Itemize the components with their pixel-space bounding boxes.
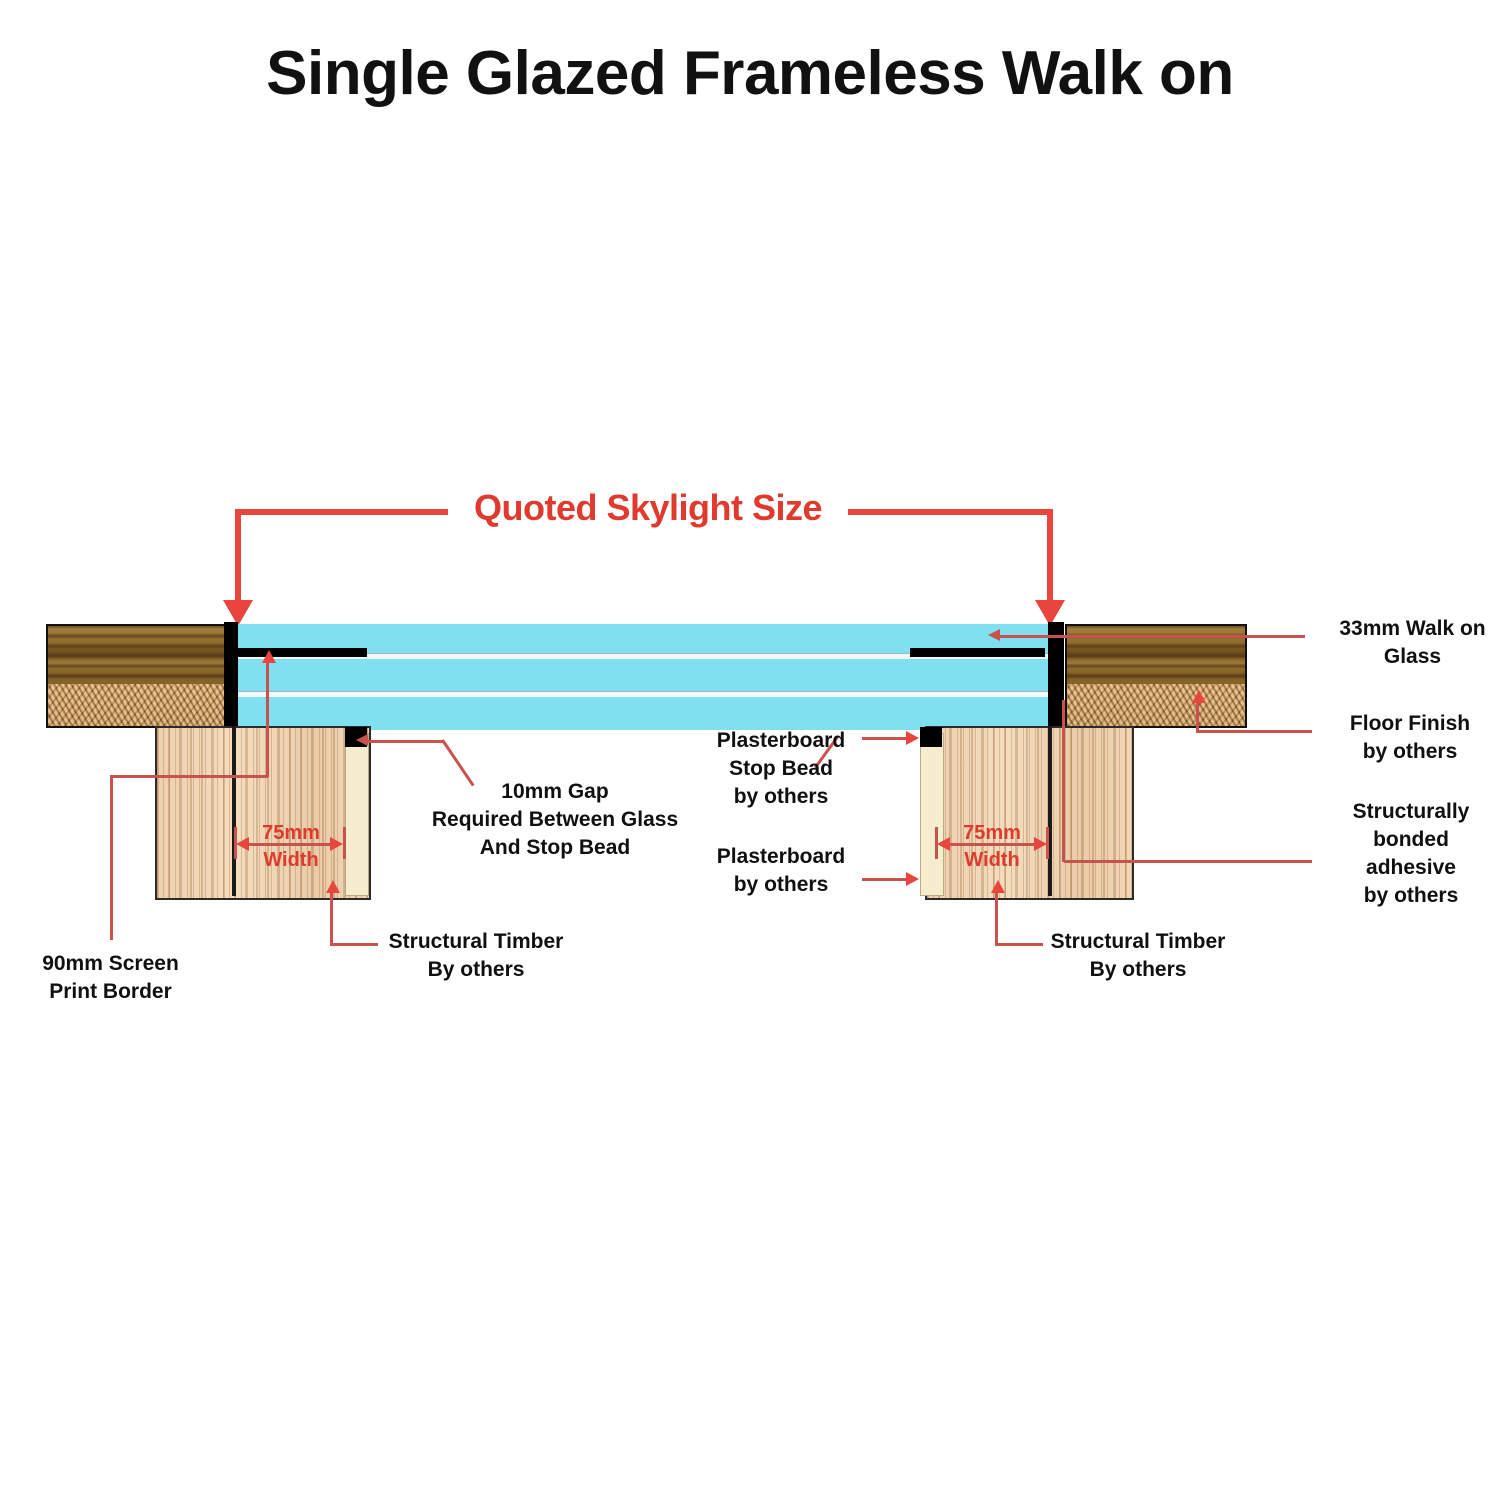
plasterboard-right: [920, 733, 944, 896]
width-tick-right-a: [935, 827, 938, 859]
adhesive-leader-v: [1062, 700, 1065, 862]
floor-finish-label: Floor Finish by others: [1325, 710, 1495, 766]
floor-finish-leader-v: [1196, 700, 1199, 732]
timber-right-leader-v: [995, 890, 998, 946]
quoted-skylight-size-label: Quoted Skylight Size: [448, 487, 848, 529]
glass-spec-label: 33mm Walk on Glass: [1330, 615, 1495, 671]
timber-right-leader-h: [995, 943, 1043, 946]
gap-note-label: 10mm Gap Required Between Glass And Stop…: [425, 778, 685, 862]
stop-bead-label: Plasterboard Stop Bead by others: [700, 727, 862, 811]
screen-print-border-right: [910, 648, 1045, 657]
timber-right-arrow-icon: [991, 880, 1005, 893]
screen-print-leader-h: [110, 775, 268, 778]
floor-finish-substrate-left: [46, 684, 228, 728]
glass-spec-arrow-icon: [988, 629, 1000, 641]
diagram-canvas: Single Glazed Frameless Walk on Quoted S…: [0, 0, 1500, 1500]
adhesive-label: Structurally bonded adhesive by others: [1325, 798, 1497, 910]
glass-pane-middle: [232, 659, 1052, 691]
timber-left-arrow-icon: [326, 880, 340, 893]
width-tick-left-b: [343, 827, 346, 859]
timber-left-leader-h: [330, 943, 378, 946]
page-title: Single Glazed Frameless Walk on: [0, 38, 1500, 109]
floor-finish-wood-left: [46, 624, 228, 688]
screen-print-border-left: [232, 648, 367, 657]
quoted-leader-right-drop: [1047, 509, 1053, 602]
quoted-leader-left-drop: [235, 509, 241, 602]
gap-arrow-icon: [356, 734, 368, 746]
width-label-left: 75mm Width: [243, 820, 339, 873]
floor-finish-leader-h: [1196, 730, 1312, 733]
screen-print-leader-v: [110, 775, 113, 940]
plasterboard-label: Plasterboard by others: [700, 843, 862, 899]
screen-print-arrow-icon: [262, 650, 276, 663]
timber-right-label: Structural Timber By others: [1040, 928, 1236, 984]
structural-timber-left: [155, 726, 371, 900]
structural-timber-right: [925, 726, 1134, 900]
glass-spec-leader: [1000, 635, 1305, 638]
timber-joint-left: [232, 726, 236, 896]
timber-left-label: Structural Timber By others: [378, 928, 574, 984]
plasterboard-arrow-icon: [906, 872, 919, 886]
plasterboard-left: [345, 733, 369, 896]
floor-finish-arrow-icon: [1192, 690, 1206, 703]
quoted-leader-left-segment: [235, 509, 457, 515]
quoted-leader-right-segment: [838, 509, 1053, 515]
timber-left-leader-v: [330, 890, 333, 946]
bonded-adhesive-left: [224, 622, 238, 728]
gap-leader-h: [368, 740, 443, 743]
floor-finish-wood-right: [1065, 624, 1247, 688]
timber-joint-right: [1048, 726, 1052, 896]
stop-bead-arrow-icon: [906, 731, 919, 745]
floor-finish-substrate-right: [1065, 684, 1247, 728]
width-tick-right-b: [1046, 827, 1049, 859]
width-label-right: 75mm Width: [944, 820, 1040, 873]
width-tick-left-a: [234, 827, 237, 859]
screen-print-label: 90mm Screen Print Border: [28, 950, 193, 1006]
adhesive-leader-h: [1064, 860, 1312, 863]
screen-print-leader-up: [266, 660, 269, 777]
plasterboard-stop-bead-right: [920, 727, 942, 747]
